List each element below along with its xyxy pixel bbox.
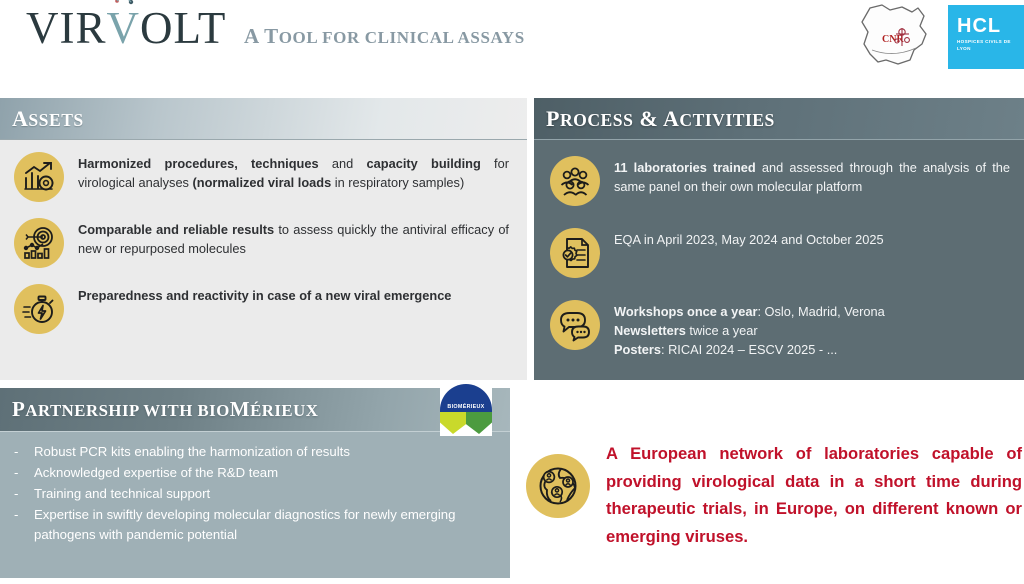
virus-molecule-icon [111,0,137,8]
partnership-panel: PARTNERSHIP WITH BIOMÉRIEUX -Robust PCR … [0,388,510,584]
process-item-3: Workshops once a year: Oslo, Madrid, Ver… [544,300,1010,360]
cnr-france-map-icon: CNR [852,2,936,70]
document-check-gear-icon [550,228,600,278]
asset-item-1-text: Harmonized procedures, techniques and ca… [78,152,509,193]
logo-text: VIRV OLT [26,6,226,51]
logo-part-3: OLT [140,6,226,51]
asset-item-1: Harmonized procedures, techniques and ca… [8,152,509,202]
bullet-dash: - [14,463,34,483]
list-item: -Expertise in swiftly developing molecul… [14,505,494,545]
stopwatch-reactivity-icon [14,284,64,334]
page-tagline: A TOOL FOR CLINICAL ASSAYS [244,24,525,49]
assets-panel-header: ASSETS [0,98,527,140]
partnership-bullet-list: -Robust PCR kits enabling the harmonizat… [0,432,510,545]
hcl-logo-main: HCL [957,16,1024,36]
target-analytics-icon [14,218,64,268]
asset-item-3: Preparedness and reactivity in case of a… [8,284,509,334]
list-item-text: Expertise in swiftly developing molecula… [34,505,494,545]
logo-part-2: V [107,6,141,51]
list-item-text: Acknowledged expertise of the R&D team [34,463,278,483]
list-item: -Robust PCR kits enabling the harmonizat… [14,442,494,462]
bullet-dash: - [14,505,34,545]
globe-network-icon [526,454,590,518]
biomerieux-logo-green [466,412,492,434]
bullet-dash: - [14,442,34,462]
partnership-panel-title: PARTNERSHIP WITH BIOMÉRIEUX [12,397,318,422]
assets-panel-title: ASSETS [12,106,84,132]
group-people-icon [550,156,600,206]
partnership-panel-header: PARTNERSHIP WITH BIOMÉRIEUX [0,388,510,432]
biomerieux-logo-leaf [440,412,492,434]
list-item-text: Training and technical support [34,484,210,504]
asset-item-2: Comparable and reliable results to asses… [8,218,509,268]
list-item: -Training and technical support [14,484,494,504]
conclusion-block: A European network of laboratories capab… [520,440,1024,550]
logo-part-1: VIR [26,6,107,51]
process-item-2: EQA in April 2023, May 2024 and October … [544,228,1010,278]
process-item-2-text: EQA in April 2023, May 2024 and October … [614,228,1010,250]
assets-panel-body: Harmonized procedures, techniques and ca… [0,140,527,334]
conclusion-text: A European network of laboratories capab… [606,440,1024,550]
process-panel-header: PROCESS & ACTIVITIES [534,98,1024,140]
process-panel-title: PROCESS & ACTIVITIES [546,106,775,132]
process-item-1: 11 laboratories trained and assessed thr… [544,156,1010,206]
page-header: VIRV OLT A TOOL FOR CLINICAL ASSAYS CNR [0,0,1024,74]
assets-panel: ASSETS [0,98,527,380]
bullet-dash: - [14,484,34,504]
biomerieux-logo: BIOMÉRIEUX [440,384,492,436]
list-item: -Acknowledged expertise of the R&D team [14,463,494,483]
process-item-1-text: 11 laboratories trained and assessed thr… [614,156,1010,197]
virvolt-logo: VIRV OLT [26,6,226,51]
asset-item-2-text: Comparable and reliable results to asses… [78,218,509,259]
cnr-label: CNR [882,34,904,45]
hcl-logo: HCL HOSPICES CIVILS DE LYON [948,5,1024,69]
process-activities-panel: PROCESS & ACTIVITIES 11 laboratories tra… [534,98,1024,380]
process-item-3-text: Workshops once a year: Oslo, Madrid, Ver… [614,300,1010,360]
biomerieux-logo-label: BIOMÉRIEUX [440,384,492,412]
list-item-text: Robust PCR kits enabling the harmonizati… [34,442,350,462]
bottom-spacer [0,578,1024,584]
asset-item-3-text: Preparedness and reactivity in case of a… [78,284,509,306]
process-panel-body: 11 laboratories trained and assessed thr… [534,140,1024,360]
biomerieux-logo-yellow [440,412,466,434]
speech-bubbles-icon [550,300,600,350]
hcl-logo-sub: HOSPICES CIVILS DE LYON [957,39,1013,52]
bar-chart-growth-gear-icon [14,152,64,202]
